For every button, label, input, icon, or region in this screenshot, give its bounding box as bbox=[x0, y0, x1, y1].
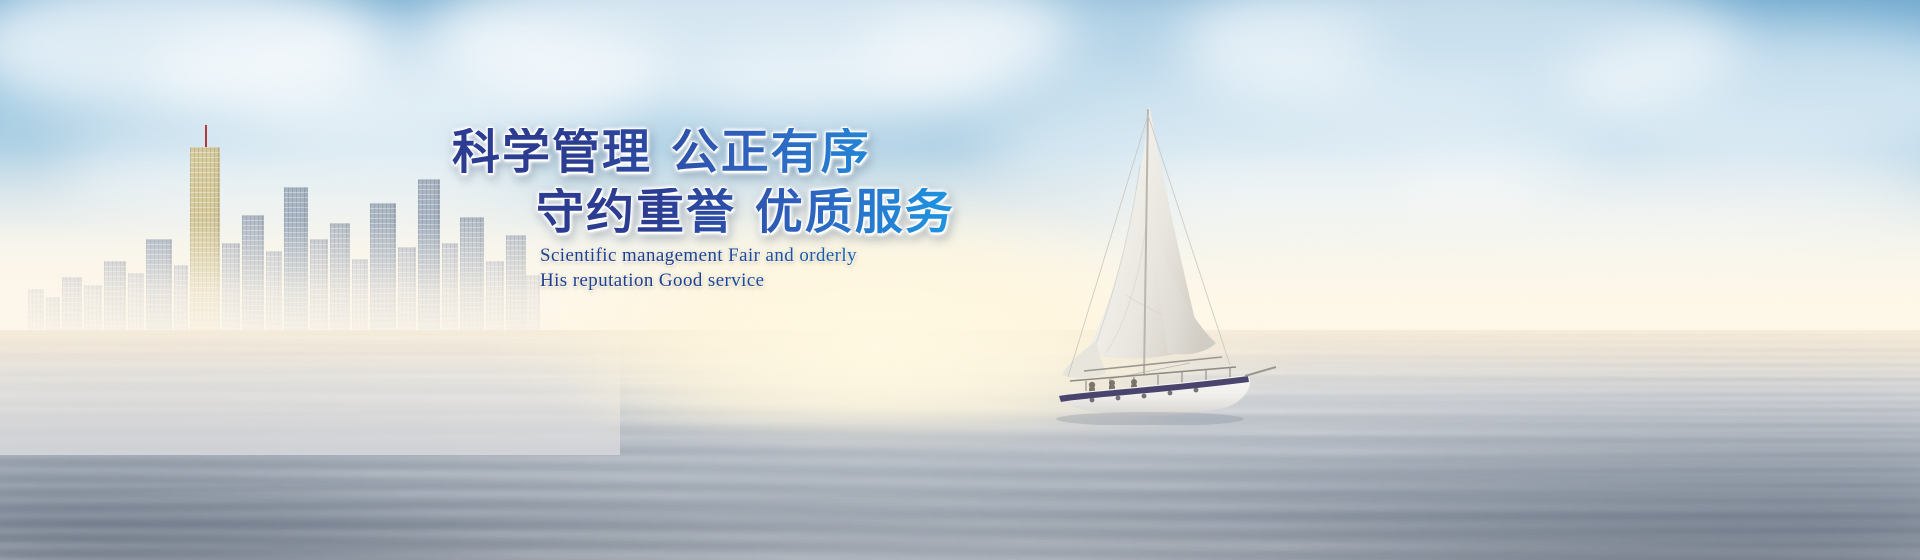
building bbox=[242, 215, 264, 335]
building bbox=[174, 265, 188, 335]
building bbox=[526, 275, 540, 335]
building bbox=[486, 261, 504, 335]
building bbox=[190, 147, 220, 335]
subtitle-line-1: Scientific management Fair and orderly bbox=[540, 245, 1240, 267]
building bbox=[62, 277, 82, 335]
headline-line-2: 守约重誉 优质服务 bbox=[536, 188, 1172, 236]
building bbox=[284, 187, 308, 335]
building bbox=[330, 223, 350, 335]
building bbox=[370, 203, 396, 335]
boom bbox=[1084, 357, 1222, 371]
headline: 科学管理 公正有序 守约重誉 优质服务 bbox=[452, 128, 1172, 236]
building bbox=[84, 285, 102, 335]
hero-banner: 科学管理 公正有序 守约重誉 优质服务 Scientific managemen… bbox=[0, 0, 1920, 560]
bowsprit bbox=[1245, 367, 1276, 376]
building bbox=[104, 261, 126, 335]
antenna bbox=[205, 125, 207, 147]
building bbox=[128, 273, 144, 335]
boat-reflection bbox=[1056, 412, 1244, 425]
building bbox=[398, 247, 416, 335]
subtitle-line-2: His reputation Good service bbox=[540, 270, 1240, 292]
building bbox=[418, 179, 440, 335]
building bbox=[506, 235, 526, 335]
building bbox=[266, 251, 282, 335]
building bbox=[442, 243, 458, 335]
cloud bbox=[700, 40, 1000, 120]
headline-line-1: 科学管理 公正有序 bbox=[452, 128, 1172, 176]
building bbox=[146, 239, 172, 335]
building bbox=[222, 243, 240, 335]
building bbox=[310, 239, 328, 335]
building bbox=[28, 289, 44, 335]
building bbox=[352, 259, 368, 335]
